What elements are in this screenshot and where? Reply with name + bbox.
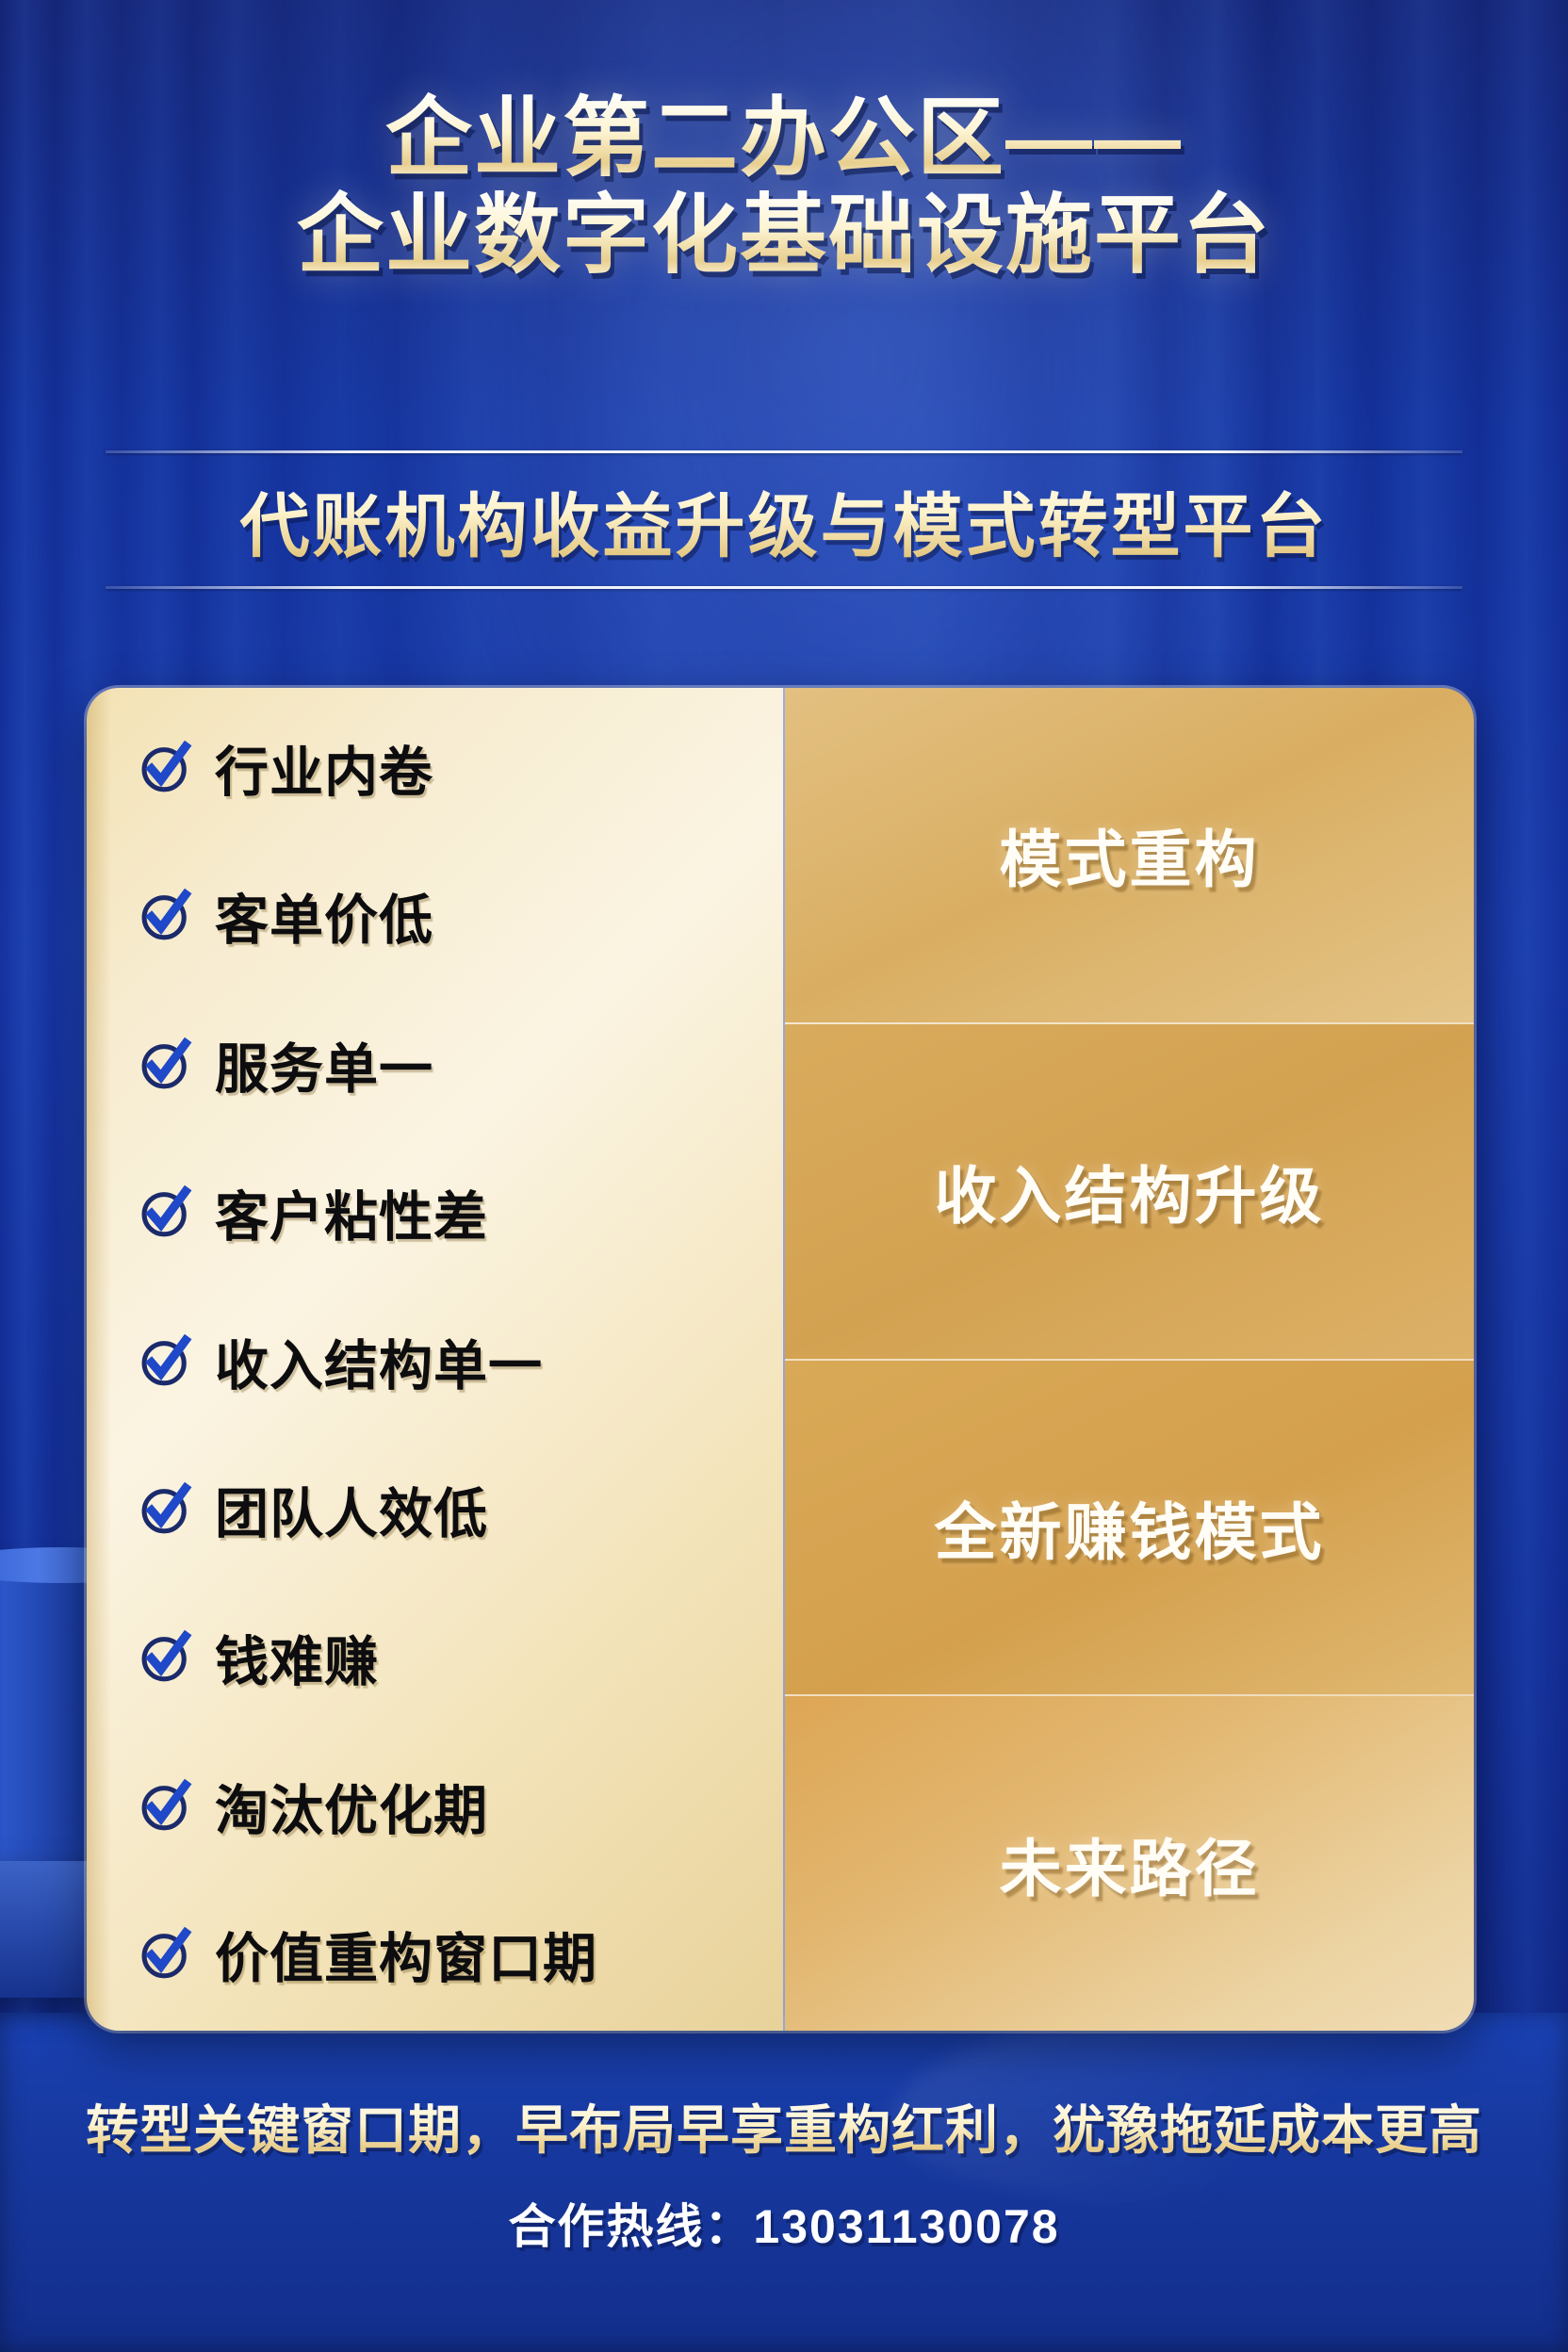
list-item-label: 服务单一 [215, 1026, 433, 1103]
list-item: 收入结构单一 [139, 1323, 783, 1400]
list-item-label: 客单价低 [215, 877, 433, 955]
poster-canvas: 企业第二办公区—— 企业数字化基础设施平台 代账机构收益升级与模式转型平台 行业… [0, 0, 1568, 2352]
list-item-label: 淘汰优化期 [215, 1768, 488, 1845]
check-circle-icon [139, 890, 190, 941]
list-item: 价值重构窗口期 [139, 1916, 783, 1993]
footer-hotline: 合作热线：13031130078 [0, 2189, 1568, 2257]
check-circle-icon [139, 1039, 190, 1090]
list-item-label: 价值重构窗口期 [215, 1916, 597, 1993]
list-item-label: 团队人效低 [215, 1471, 488, 1548]
check-circle-icon [139, 1187, 190, 1238]
solution-block: 全新赚钱模式 [785, 1361, 1474, 1697]
list-item-label: 收入结构单一 [215, 1323, 543, 1400]
title-line-1: 企业第二办公区—— [0, 90, 1568, 188]
title-line-2: 企业数字化基础设施平台 [0, 188, 1568, 285]
list-item: 客户粘性差 [139, 1174, 783, 1251]
list-item-label: 钱难赚 [215, 1619, 379, 1696]
poster-footer: 转型关键窗口期，早布局早享重构红利，犹豫拖延成本更高 合作热线：13031130… [0, 2088, 1568, 2257]
check-circle-icon [139, 1781, 190, 1832]
solution-label: 全新赚钱模式 [934, 1482, 1324, 1573]
solution-label: 收入结构升级 [934, 1146, 1324, 1236]
list-item: 行业内卷 [139, 729, 783, 807]
list-item: 客单价低 [139, 877, 783, 955]
list-item: 服务单一 [139, 1026, 783, 1103]
check-circle-icon [139, 1632, 190, 1683]
subtitle-band: 代账机构收益升级与模式转型平台 [106, 450, 1462, 589]
check-circle-icon [139, 1484, 190, 1535]
check-circle-icon [139, 1336, 190, 1387]
pain-point-list: 行业内卷 客单价低 服务单一 客户粘性差 [87, 688, 783, 2031]
list-item: 淘汰优化期 [139, 1768, 783, 1845]
list-item-label: 客户粘性差 [215, 1174, 488, 1251]
subtitle-rule-bottom [106, 586, 1462, 589]
solution-list: 模式重构 收入结构升级 全新赚钱模式 未来路径 [783, 688, 1474, 2031]
solution-block: 收入结构升级 [785, 1024, 1474, 1361]
list-item: 团队人效低 [139, 1471, 783, 1548]
list-item: 钱难赚 [139, 1619, 783, 1696]
content-card: 行业内卷 客单价低 服务单一 客户粘性差 [87, 688, 1474, 2031]
poster-heading: 企业第二办公区—— 企业数字化基础设施平台 [0, 90, 1568, 285]
list-item-label: 行业内卷 [215, 729, 433, 807]
solution-label: 模式重构 [999, 809, 1259, 900]
subtitle-text: 代账机构收益升级与模式转型平台 [106, 453, 1462, 586]
check-circle-icon [139, 1929, 190, 1980]
solution-block: 未来路径 [785, 1696, 1474, 2031]
solution-block: 模式重构 [785, 688, 1474, 1024]
check-circle-icon [139, 743, 190, 793]
footer-slogan: 转型关键窗口期，早布局早享重构红利，犹豫拖延成本更高 [0, 2088, 1568, 2164]
solution-label: 未来路径 [999, 1819, 1259, 1909]
